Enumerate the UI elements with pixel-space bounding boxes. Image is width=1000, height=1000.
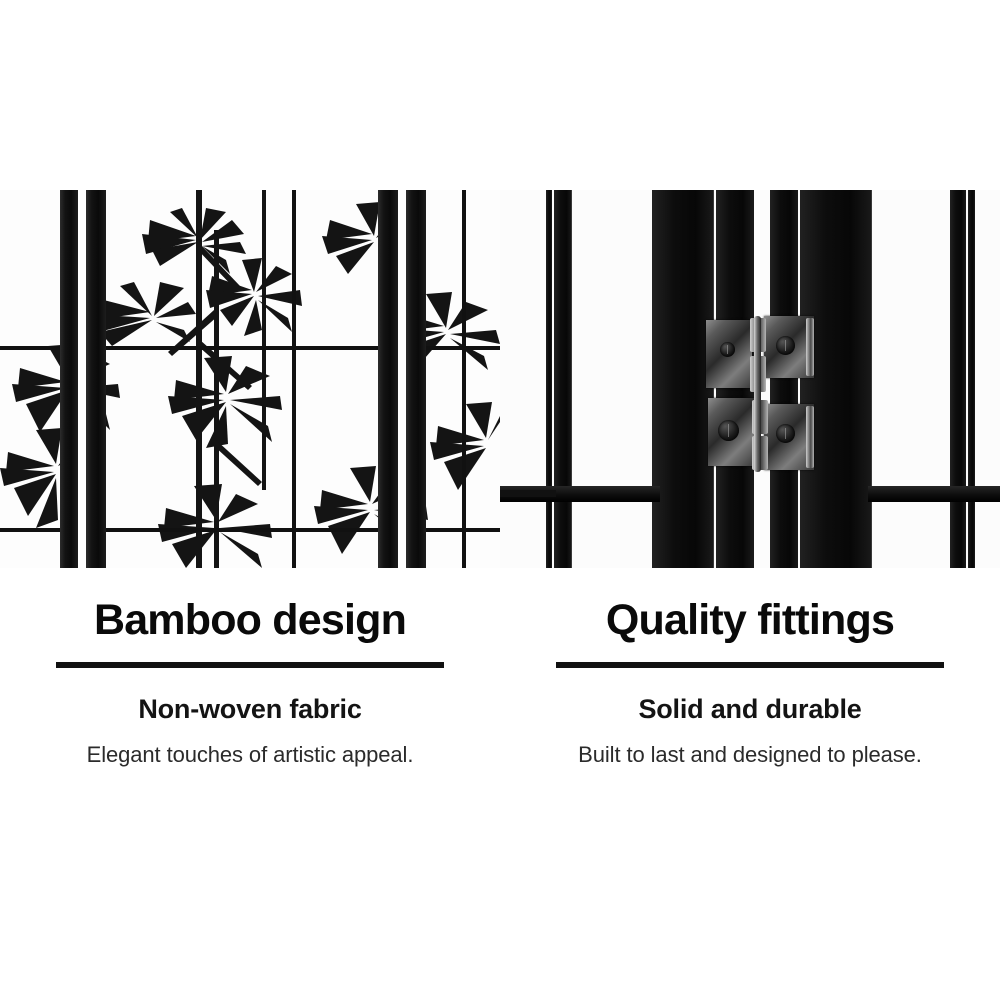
divider-post: [950, 190, 966, 568]
hinge-closeup-photo: [500, 190, 1000, 568]
divider-post: [554, 190, 572, 568]
subtitle-bamboo: Non-woven fabric: [0, 692, 500, 726]
headline-fittings: Quality fittings: [500, 580, 1000, 646]
metal-hinge: [706, 316, 814, 476]
panel-gap: [398, 190, 406, 568]
panel-row: Bamboo design Non-woven fabric Elegant t…: [0, 0, 1000, 1000]
frame-post: [406, 190, 426, 568]
lattice-rail: [868, 486, 1000, 502]
frame-post: [86, 190, 106, 568]
divider-post: [968, 190, 975, 568]
bamboo-screen-photo: [0, 190, 500, 568]
panel-fittings: Quality fittings Solid and durable Built…: [500, 0, 1000, 1000]
frame-post: [60, 190, 78, 568]
hinge-pin: [754, 316, 761, 472]
headline-divider: [56, 662, 444, 668]
caption-block-fittings: Quality fittings Solid and durable Built…: [500, 580, 1000, 770]
lattice-muntin-vertical: [292, 190, 296, 568]
subtitle-fittings: Solid and durable: [500, 692, 1000, 726]
hinge-edge-bevel: [806, 406, 814, 468]
caption-block-bamboo: Bamboo design Non-woven fabric Elegant t…: [0, 580, 500, 770]
headline-bamboo: Bamboo design: [0, 580, 500, 646]
hinge-screw: [718, 420, 739, 441]
frame-post: [378, 190, 398, 568]
blurb-fittings: Built to last and designed to please.: [500, 740, 1000, 770]
hinge-screw: [776, 424, 795, 443]
screen-panel-slab: [652, 190, 714, 568]
lattice-muntin-vertical: [462, 190, 466, 568]
hinge-screw: [776, 336, 795, 355]
blurb-bamboo: Elegant touches of artistic appeal.: [0, 740, 500, 770]
product-infographic: Bamboo design Non-woven fabric Elegant t…: [0, 0, 1000, 1000]
headline-divider: [556, 662, 944, 668]
hinge-screw: [720, 342, 735, 357]
panel-gap: [78, 190, 86, 568]
divider-post: [546, 190, 552, 568]
lattice-rail: [500, 490, 556, 497]
panel-bamboo: Bamboo design Non-woven fabric Elegant t…: [0, 0, 500, 1000]
hinge-edge-bevel: [806, 318, 814, 376]
